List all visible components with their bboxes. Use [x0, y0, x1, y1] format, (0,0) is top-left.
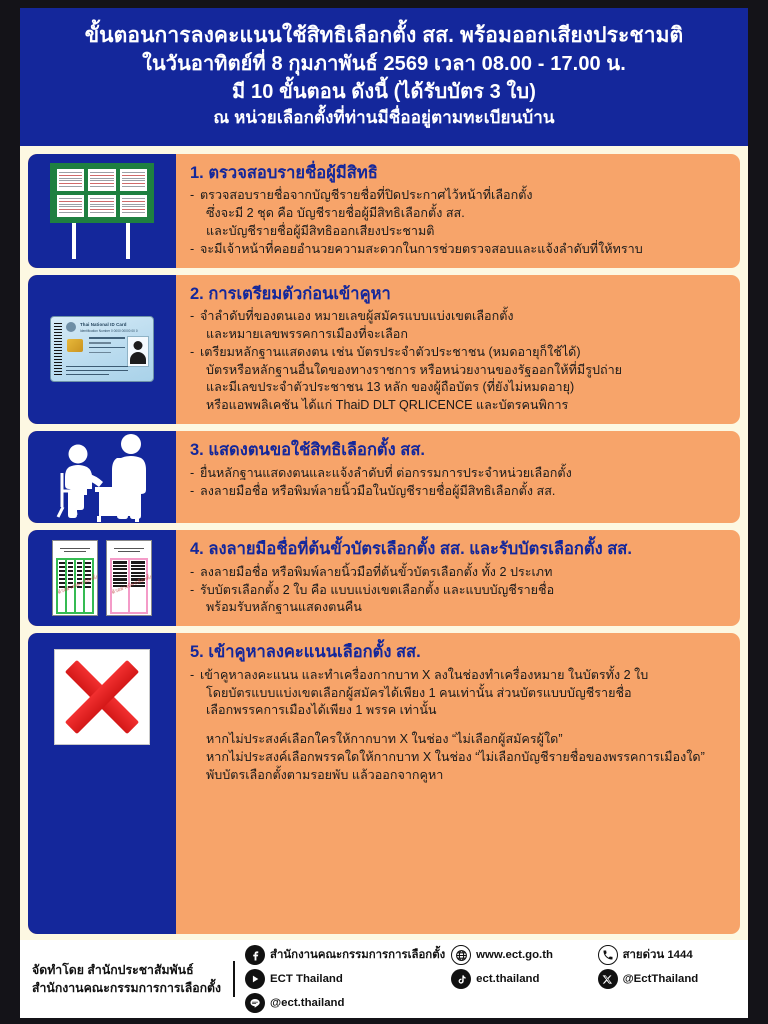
step-3-icon-panel: [28, 431, 176, 523]
step-5-title: 5. เข้าคูหาลงคะแนนเลือกตั้ง สส.: [190, 642, 730, 663]
ballot-papers-icon: ตัวอย่างบัตรเลือกตั้ง ตัวอย่างบัตรเลือกต…: [52, 540, 152, 616]
channel-youtube[interactable]: ECT Thailand: [245, 969, 445, 989]
step-1-line-3: และบัญชีรายชื่อผู้มีสิทธิออกเสียงประชามต…: [190, 223, 730, 241]
poster-header: ขั้นตอนการลงคะแนนใช้สิทธิเลือกตั้ง สส. พ…: [20, 8, 748, 146]
step-2-line-5: และมีเลขประจำตัวประชาชน 13 หลัก ของผู้ถื…: [190, 379, 730, 397]
step-4-lines: ลงลายมือชื่อ หรือพิมพ์ลายนิ้วมือที่ต้นขั…: [190, 564, 730, 618]
step-5-line-3: เลือกพรรคการเมืองได้เพียง 1 พรรค เท่านั้…: [190, 702, 730, 720]
id-card-icon: Thai National ID Card Identification Num…: [50, 316, 154, 382]
step-4-body: 4. ลงลายมือชื่อที่ต้นขั้วบัตรเลือกตั้ง ส…: [176, 530, 740, 626]
step-2-title: 2. การเตรียมตัวก่อนเข้าคูหา: [190, 284, 730, 305]
notice-board-icon: [50, 163, 154, 259]
step-4-line-2: รับบัตรเลือกตั้ง 2 ใบ คือ แบบแบ่งเขตเลือ…: [190, 582, 730, 600]
step-2-line-2: และหมายเลขพรรคการเมืองที่จะเลือก: [190, 326, 730, 344]
step-2-line-6: หรือแอพพลิเคชัน ได้แก่ ThaiD DLT QRLICEN…: [190, 397, 730, 415]
step-5-body: 5. เข้าคูหาลงคะแนนเลือกตั้ง สส. เข้าคูหา…: [176, 633, 740, 934]
channel-line[interactable]: @ect.thailand: [245, 993, 445, 1013]
step-2-body: 2. การเตรียมตัวก่อนเข้าคูหา จำลำดับที่ขอ…: [176, 275, 740, 425]
facebook-icon: [245, 945, 265, 965]
poster-footer: จัดทำโดย สำนักประชาสัมพันธ์ สำนักงานคณะก…: [20, 940, 748, 1018]
step-card-4: ตัวอย่างบัตรเลือกตั้ง ตัวอย่างบัตรเลือกต…: [28, 530, 740, 626]
step-5-line-4: หากไม่ประสงค์เลือกใครให้กากบาท X ในช่อง …: [190, 731, 730, 749]
channel-website-label: www.ect.go.th: [476, 949, 553, 961]
step-card-3: 3. แสดงตนขอใช้สิทธิเลือกตั้ง สส. ยื่นหลั…: [28, 431, 740, 523]
id-card-photo: [127, 336, 149, 367]
step-3-body: 3. แสดงตนขอใช้สิทธิเลือกตั้ง สส. ยื่นหลั…: [176, 431, 740, 523]
ballot-constituency: ตัวอย่างบัตรเลือกตั้ง: [52, 540, 98, 616]
footer-credit-line-2: สำนักงานคณะกรรมการการเลือกตั้ง: [32, 979, 221, 997]
step-4-line-1: ลงลายมือชื่อ หรือพิมพ์ลายนิ้วมือที่ต้นขั…: [190, 564, 730, 582]
id-card-number: Identification Number 0 0000 00000 00 0: [80, 329, 138, 333]
channel-hotline-label: สายด่วน 1444: [623, 946, 693, 964]
x-twitter-icon: [598, 969, 618, 989]
channel-x-twitter[interactable]: @EctThailand: [598, 969, 738, 989]
header-title-line-1: ขั้นตอนการลงคะแนนใช้สิทธิเลือกตั้ง สส. พ…: [30, 22, 738, 51]
id-card-barcode: [54, 323, 62, 377]
step-1-line-2: ซึ่งจะมี 2 ชุด คือ บัญชีรายชื่อผู้มีสิทธ…: [190, 205, 730, 223]
red-x-mark-icon: [54, 649, 150, 745]
step-5-lines: เข้าคูหาลงคะแนน และทำเครื่องกากบาท X ลงใ…: [190, 667, 730, 785]
step-5-line-5: หากไม่ประสงค์เลือกพรรคใดให้กากบาท X ในช่…: [190, 749, 730, 767]
channel-line-label: @ect.thailand: [270, 997, 344, 1009]
step-2-lines: จำลำดับที่ของตนเอง หมายเลขผู้สมัครแบบแบ่…: [190, 308, 730, 415]
channel-facebook-label: สำนักงานคณะกรรมการการเลือกตั้ง: [270, 946, 445, 964]
desk-registration-icon: [47, 431, 157, 523]
line-icon: [245, 993, 265, 1013]
step-5-line-2: โดยบัตรแบบแบ่งเขตเลือกผู้สมัครได้เพียง 1…: [190, 685, 730, 703]
step-card-2: Thai National ID Card Identification Num…: [28, 275, 740, 425]
channel-youtube-label: ECT Thailand: [270, 973, 343, 985]
step-1-icon-panel: [28, 154, 176, 268]
step-3-line-1: ยื่นหลักฐานแสดงตนและแจ้งลำดับที่ ต่อกรรม…: [190, 465, 730, 483]
ballot-party-list: ตัวอย่างบัตรเลือกตั้ง: [106, 540, 152, 616]
footer-credit-line-1: จัดทำโดย สำนักประชาสัมพันธ์: [32, 961, 221, 979]
phone-icon: [598, 945, 618, 965]
step-1-line-1: ตรวจสอบรายชื่อจากบัญชีรายชื่อที่ปิดประกา…: [190, 187, 730, 205]
step-2-icon-panel: Thai National ID Card Identification Num…: [28, 275, 176, 425]
id-card-title: Thai National ID Card: [80, 322, 127, 327]
step-2-line-3: เตรียมหลักฐานแสดงตน เช่น บัตรประจำตัวประ…: [190, 344, 730, 362]
channel-tiktok[interactable]: ect.thailand: [451, 969, 591, 989]
header-title-line-3: มี 10 ขั้นตอน ดังนี้ (ได้รับบัตร 3 ใบ): [30, 79, 738, 107]
step-5-line-6: พับบัตรเลือกตั้งตามรอยพับ แล้วออกจากคูหา: [190, 767, 730, 785]
step-2-line-1: จำลำดับที่ของตนเอง หมายเลขผู้สมัครแบบแบ่…: [190, 308, 730, 326]
step-1-lines: ตรวจสอบรายชื่อจากบัญชีรายชื่อที่ปิดประกา…: [190, 187, 730, 259]
header-title-line-4: ณ หน่วยเลือกตั้งที่ท่านมีชื่ออยู่ตามทะเบ…: [30, 106, 738, 129]
step-5-line-1: เข้าคูหาลงคะแนน และทำเครื่องกากบาท X ลงใ…: [190, 667, 730, 685]
id-card-footer-lines: [66, 366, 128, 377]
id-card-chip-icon: [67, 339, 83, 352]
step-1-body: 1. ตรวจสอบรายชื่อผู้มีสิทธิ ตรวจสอบรายชื…: [176, 154, 740, 268]
election-steps-infographic: ขั้นตอนการลงคะแนนใช้สิทธิเลือกตั้ง สส. พ…: [0, 0, 768, 1024]
step-3-lines: ยื่นหลักฐานแสดงตนและแจ้งลำดับที่ ต่อกรรม…: [190, 465, 730, 501]
step-card-1: 1. ตรวจสอบรายชื่อผู้มีสิทธิ ตรวจสอบรายชื…: [28, 154, 740, 268]
steps-container: 1. ตรวจสอบรายชื่อผู้มีสิทธิ ตรวจสอบรายชื…: [20, 146, 748, 940]
step-card-5: 5. เข้าคูหาลงคะแนนเลือกตั้ง สส. เข้าคูหา…: [28, 633, 740, 934]
garuda-emblem-icon: [66, 322, 76, 332]
id-card-fields: [89, 337, 125, 356]
channel-hotline[interactable]: สายด่วน 1444: [598, 945, 738, 965]
footer-credit: จัดทำโดย สำนักประชาสัมพันธ์ สำนักงานคณะก…: [32, 961, 235, 998]
channel-facebook[interactable]: สำนักงานคณะกรรมการการเลือกตั้ง: [245, 945, 445, 965]
step-5-icon-panel: [28, 633, 176, 934]
step-4-title: 4. ลงลายมือชื่อที่ต้นขั้วบัตรเลือกตั้ง ส…: [190, 539, 730, 560]
step-1-line-4: จะมีเจ้าหน้าที่คอยอำนวยความสะดวกในการช่ว…: [190, 241, 730, 259]
channel-website[interactable]: www.ect.go.th: [451, 945, 591, 965]
tiktok-icon: [451, 969, 471, 989]
step-4-line-3: พร้อมรับหลักฐานแสดงตนคืน: [190, 599, 730, 617]
globe-icon: [451, 945, 471, 965]
step-4-icon-panel: ตัวอย่างบัตรเลือกตั้ง ตัวอย่างบัตรเลือกต…: [28, 530, 176, 626]
youtube-icon: [245, 969, 265, 989]
step-3-line-2: ลงลายมือชื่อ หรือพิมพ์ลายนิ้วมือในบัญชีร…: [190, 483, 730, 501]
channel-x-label: @EctThailand: [623, 973, 699, 985]
step-2-line-4: บัตรหรือหลักฐานอื่นใดของทางราชการ หรือหน…: [190, 362, 730, 380]
step-3-title: 3. แสดงตนขอใช้สิทธิเลือกตั้ง สส.: [190, 440, 730, 461]
step-1-title: 1. ตรวจสอบรายชื่อผู้มีสิทธิ: [190, 163, 730, 184]
footer-channels: สำนักงานคณะกรรมการการเลือกตั้ง www.ect.g…: [245, 945, 738, 1013]
header-title-line-2: ในวันอาทิตย์ที่ 8 กุมภาพันธ์ 2569 เวลา 0…: [30, 51, 738, 79]
channel-tiktok-label: ect.thailand: [476, 973, 539, 985]
